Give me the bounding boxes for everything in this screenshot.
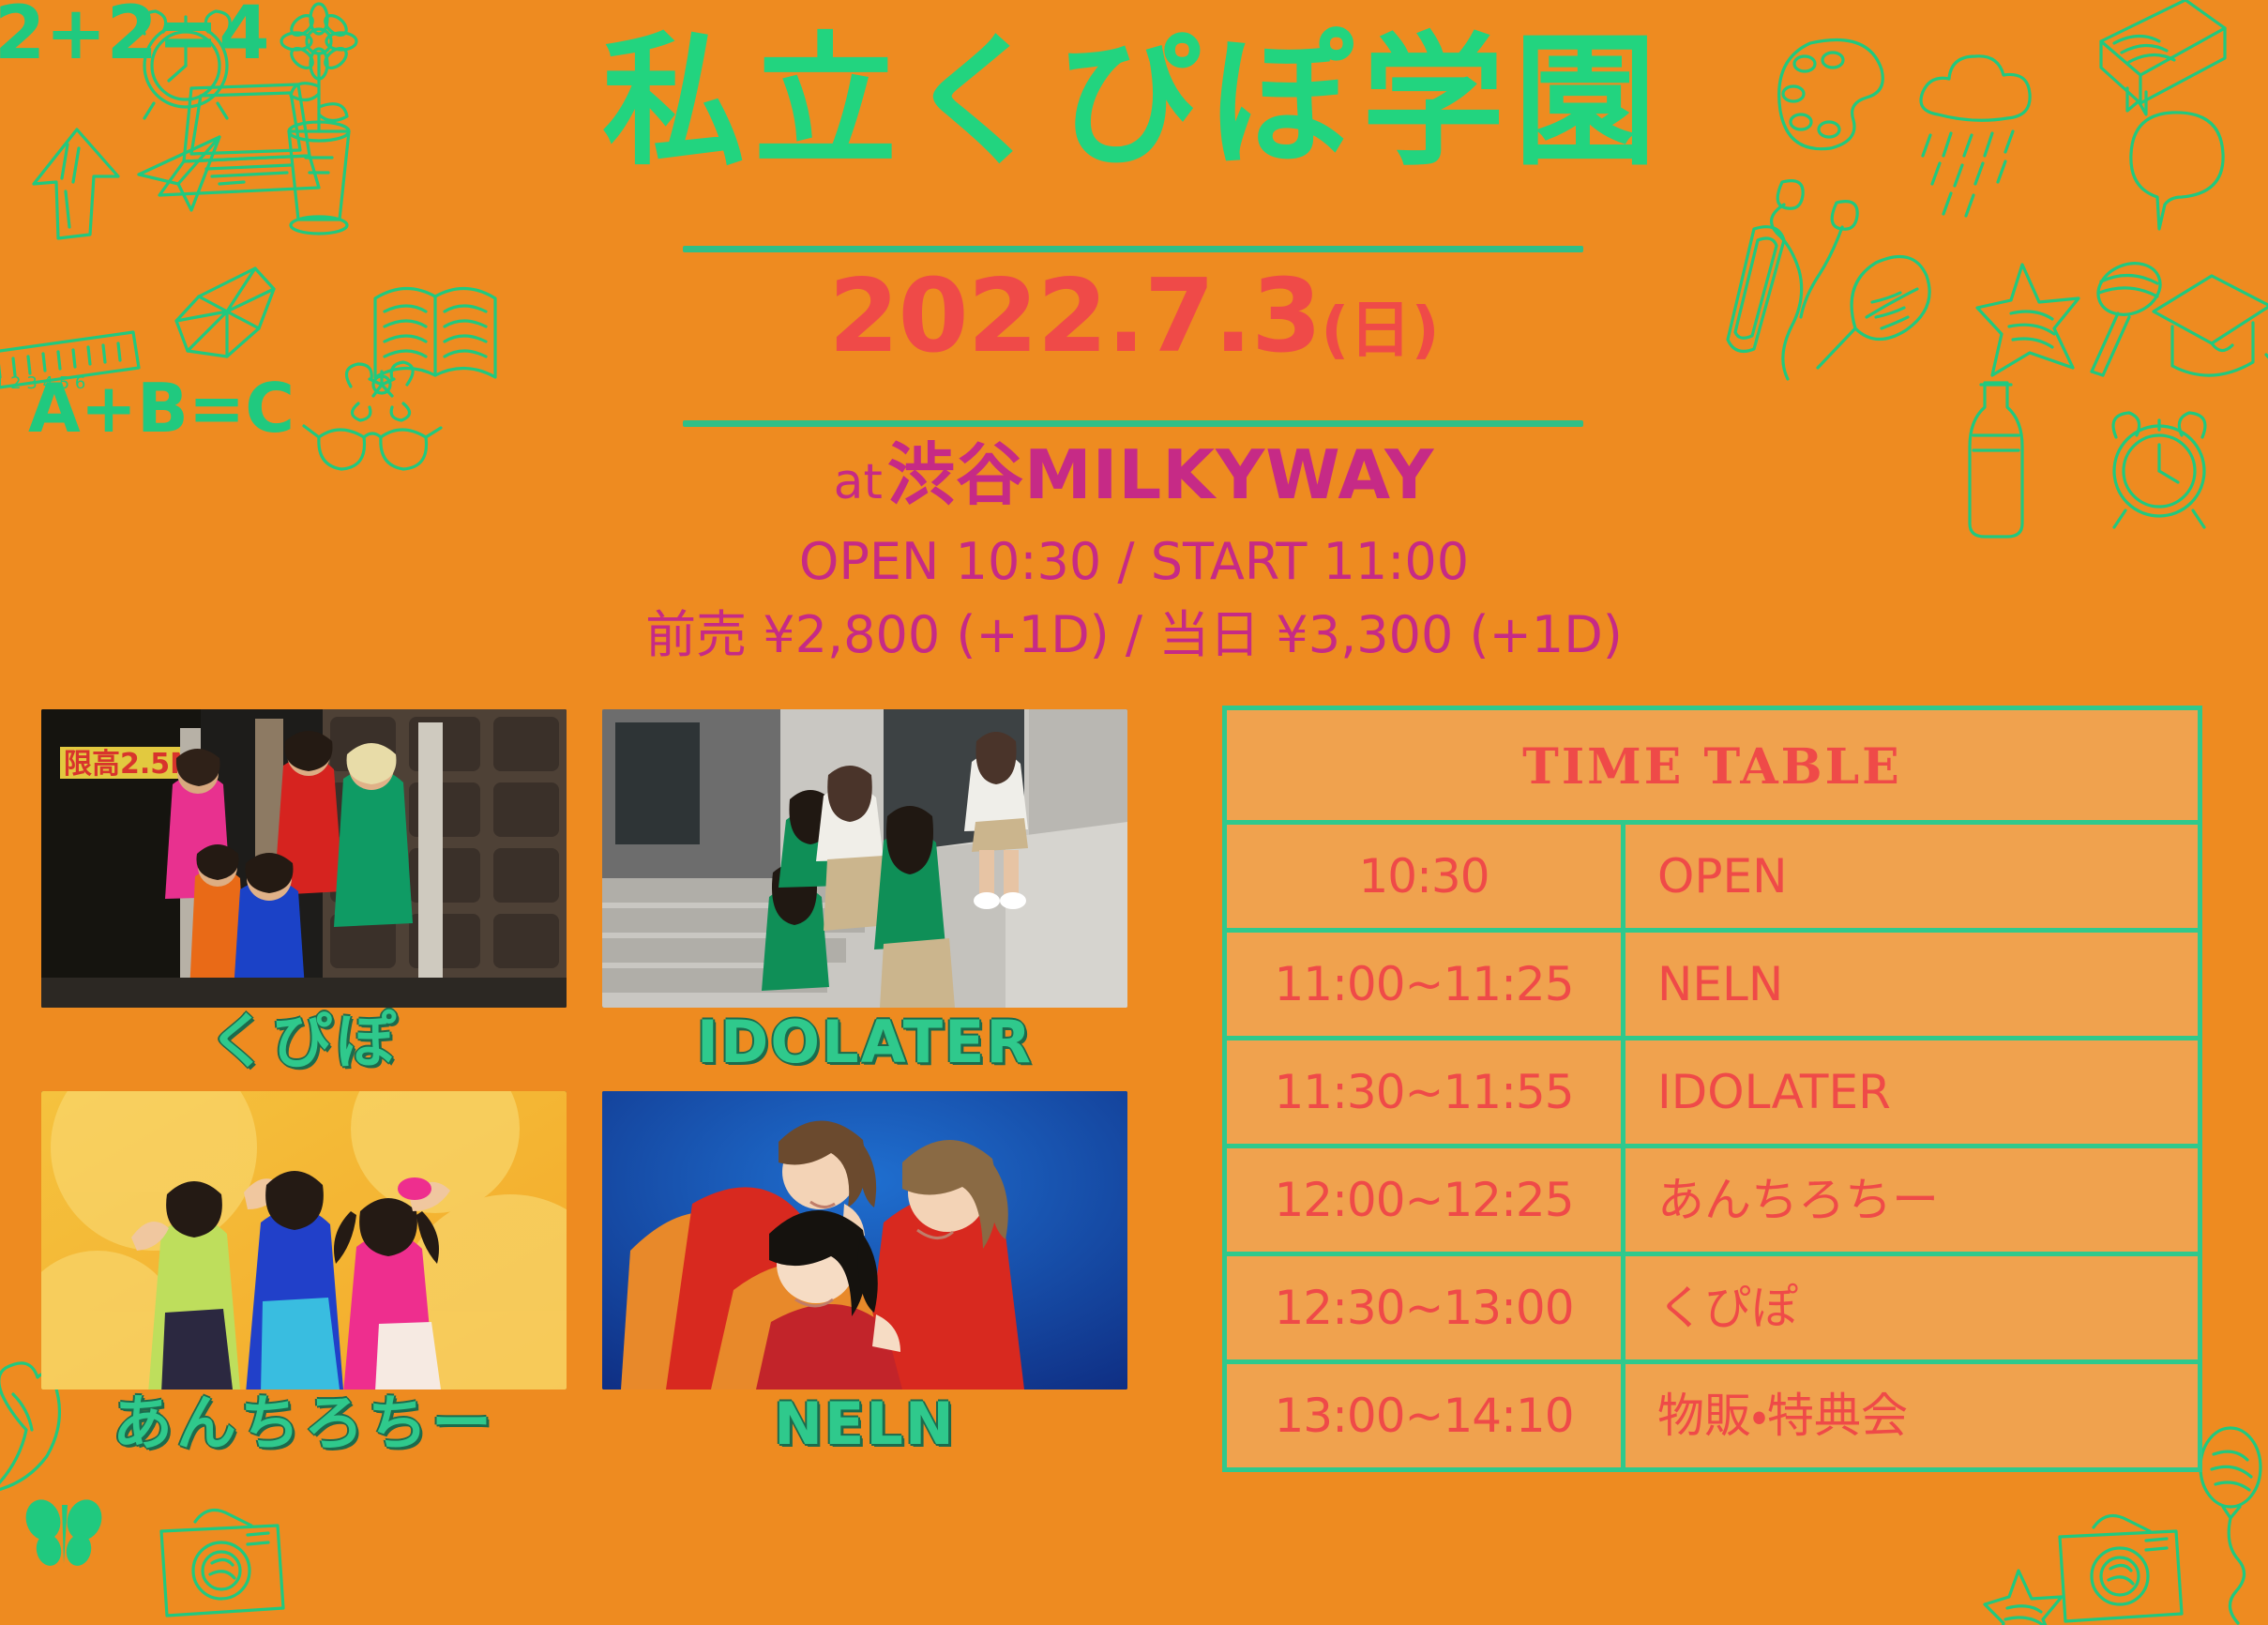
table-row: 11:00~11:25 NELN — [1227, 933, 2198, 1040]
artist-photo-idolater — [602, 709, 1127, 1008]
camera-icon — [161, 1511, 283, 1617]
artist-name-neln: NELN — [602, 1393, 1127, 1454]
table-cell-time: 11:30~11:55 — [1227, 1040, 1625, 1144]
venue-line: at 渋谷MILKYWAY — [0, 441, 2268, 509]
artist-name-kupipo: くぴぽ — [41, 1011, 567, 1074]
table-cell-time: 12:00~12:25 — [1227, 1148, 1625, 1252]
table-row: 11:30~11:55 IDOLATER — [1227, 1040, 2198, 1148]
star-2-icon — [1985, 1571, 2062, 1625]
table-cell-act: IDOLATER — [1625, 1040, 2198, 1144]
artist-photo-neln — [602, 1091, 1127, 1390]
table-cell-time: 10:30 — [1227, 825, 1625, 928]
table-row: 12:00~12:25 あんちろちー — [1227, 1148, 2198, 1256]
artist-photo-anchirochi — [41, 1091, 567, 1390]
flyer-header: 私立くぴぽ学園 2022.7.3(日) at 渋谷MILKYWAY OPEN 1… — [0, 0, 2268, 694]
camera-2-icon — [2060, 1516, 2182, 1622]
table-cell-act: くぴぽ — [1625, 1256, 2198, 1359]
event-flyer: 2+2=4 — [0, 0, 2268, 1625]
time-table: TIME TABLE 10:30 OPEN 11:00~11:25 NELN 1… — [1222, 706, 2202, 1472]
table-cell-act: NELN — [1625, 933, 2198, 1036]
divider-bottom — [683, 420, 1583, 427]
artist-card-anchirochi[interactable]: あんちろちー — [41, 1091, 567, 1456]
artist-row-1: 限高2.5M — [41, 709, 1129, 1074]
table-row: 13:00~14:10 物販・特典会 — [1227, 1364, 2198, 1467]
event-date: 2022.7.3(日) — [0, 266, 2268, 368]
table-cell-time: 12:30~13:00 — [1227, 1256, 1625, 1359]
table-cell-time: 11:00~11:25 — [1227, 933, 1625, 1036]
venue-name: 渋谷MILKYWAY — [887, 435, 1434, 514]
artist-row-2: あんちろちー — [41, 1091, 1129, 1456]
artist-card-neln[interactable]: NELN — [602, 1091, 1127, 1456]
event-day-of-week: (日) — [1321, 294, 1439, 366]
artist-card-kupipo[interactable]: 限高2.5M — [41, 709, 567, 1074]
butterfly-icon — [21, 1479, 107, 1568]
table-cell-act: 物販・特典会 — [1625, 1364, 2198, 1467]
venue-at-label: at — [834, 454, 883, 510]
artist-card-grid: 限高2.5M — [41, 709, 1129, 1456]
artist-card-idolater[interactable]: IDOLATER — [602, 709, 1127, 1074]
table-cell-act: あんちろちー — [1625, 1148, 2198, 1252]
table-cell-time: 13:00~14:10 — [1227, 1364, 1625, 1467]
price-line: 前売 ¥2,800 (+1D) / 当日 ¥3,300 (+1D) — [0, 610, 2268, 661]
balloon-icon — [2200, 1428, 2260, 1623]
table-cell-act: OPEN — [1625, 825, 2198, 928]
divider-top — [683, 246, 1583, 252]
table-row: 10:30 OPEN — [1227, 825, 2198, 933]
table-row: 12:30~13:00 くぴぽ — [1227, 1256, 2198, 1364]
artist-name-idolater: IDOLATER — [602, 1011, 1127, 1072]
time-table-heading: TIME TABLE — [1227, 710, 2198, 825]
open-start-line: OPEN 10:30 / START 11:00 — [0, 537, 2268, 587]
event-date-value: 2022.7.3 — [828, 258, 1321, 375]
artist-name-anchirochi: あんちろちー — [41, 1393, 567, 1456]
artist-photo-kupipo: 限高2.5M — [41, 709, 567, 1008]
page-title: 私立くぴぽ学園 — [0, 23, 2268, 182]
